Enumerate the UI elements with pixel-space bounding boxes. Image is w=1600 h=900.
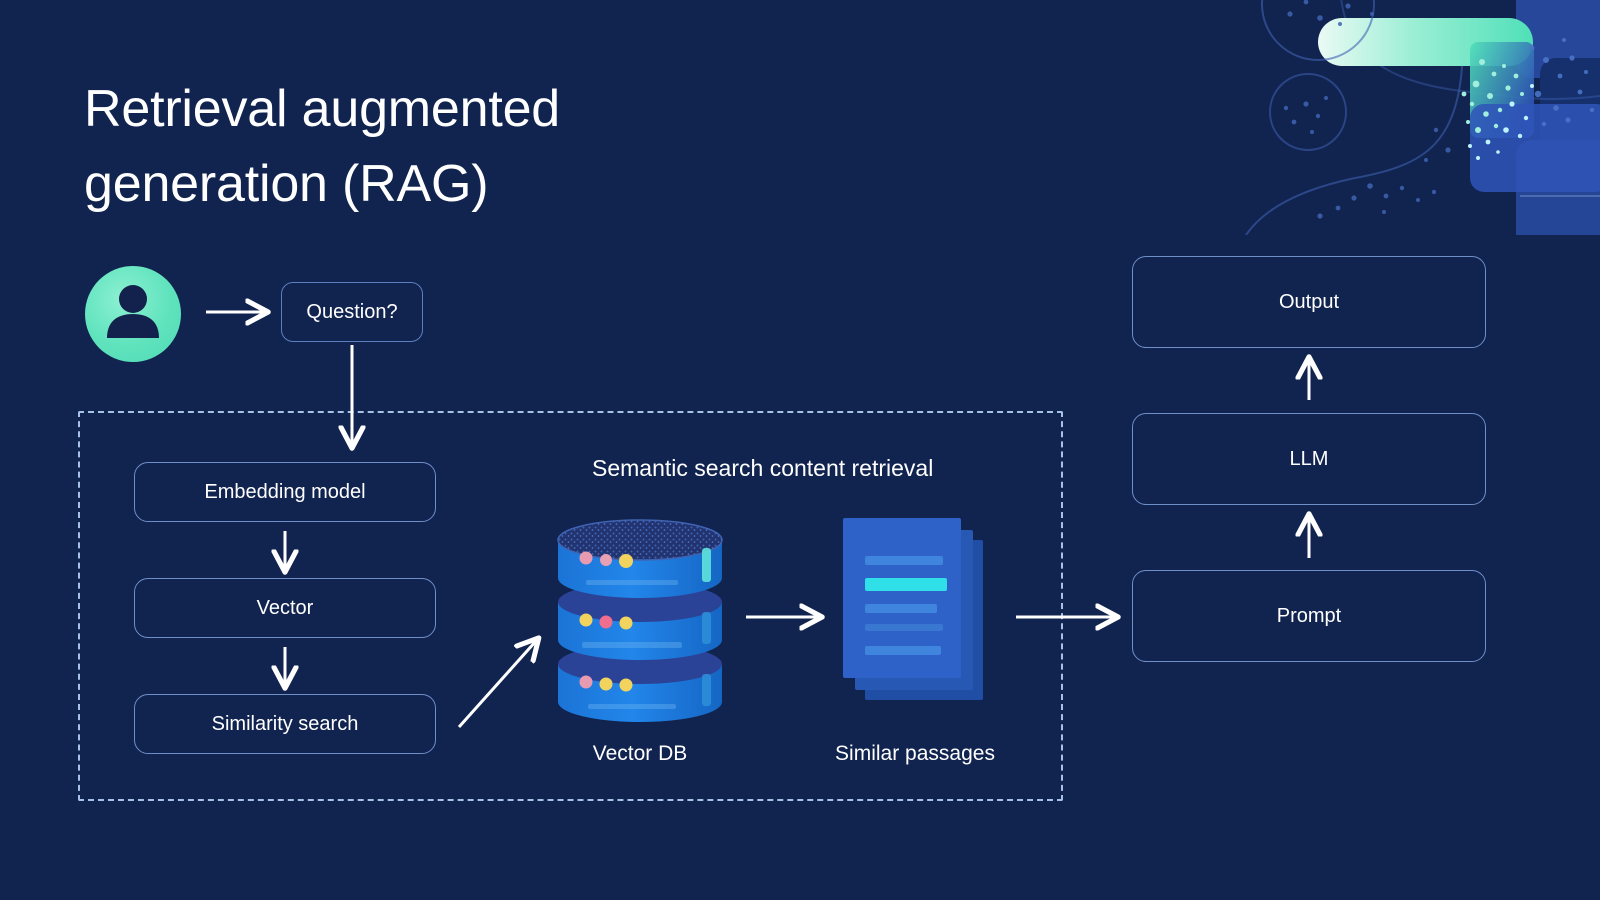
user-label: User <box>85 322 181 344</box>
prompt-box[interactable]: Prompt <box>1132 570 1486 662</box>
documents-icon <box>835 516 995 712</box>
doc-line-2 <box>865 604 937 613</box>
doc-line-3 <box>865 624 943 631</box>
llm-label: LLM <box>1290 448 1329 471</box>
page-title: Retrieval augmented generation (RAG) <box>84 72 724 223</box>
semantic-retrieval-title: Semantic search content retrieval <box>592 455 1012 482</box>
similarity-search-box[interactable]: Similarity search <box>134 694 436 754</box>
vector-db-label: Vector DB <box>512 742 768 766</box>
question-box[interactable]: Question? <box>281 282 423 342</box>
llm-box[interactable]: LLM <box>1132 413 1486 505</box>
prompt-label: Prompt <box>1277 605 1341 628</box>
doc-line-4 <box>865 646 941 655</box>
database-icon <box>552 514 728 726</box>
similar-passages-label: Similar passages <box>790 742 1040 766</box>
doc-line-0 <box>865 556 943 565</box>
doc-line-1-highlighted <box>865 578 947 591</box>
corner-graphic <box>1220 0 1600 235</box>
embedding-model-box[interactable]: Embedding model <box>134 462 436 522</box>
page-title-line-2: generation (RAG) <box>84 147 724 222</box>
similarity-search-label: Similarity search <box>212 713 359 736</box>
embedding-model-label: Embedding model <box>204 481 365 504</box>
output-label: Output <box>1279 291 1339 314</box>
vector-box[interactable]: Vector <box>134 578 436 638</box>
question-label: Question? <box>306 301 397 324</box>
person-icon <box>85 266 181 362</box>
page-title-line-1: Retrieval augmented <box>84 72 724 147</box>
slide-canvas: Retrieval augmented generation (RAG) Use… <box>0 0 1600 900</box>
user-node: User <box>85 266 181 362</box>
vector-label: Vector <box>257 597 314 620</box>
output-box[interactable]: Output <box>1132 256 1486 348</box>
